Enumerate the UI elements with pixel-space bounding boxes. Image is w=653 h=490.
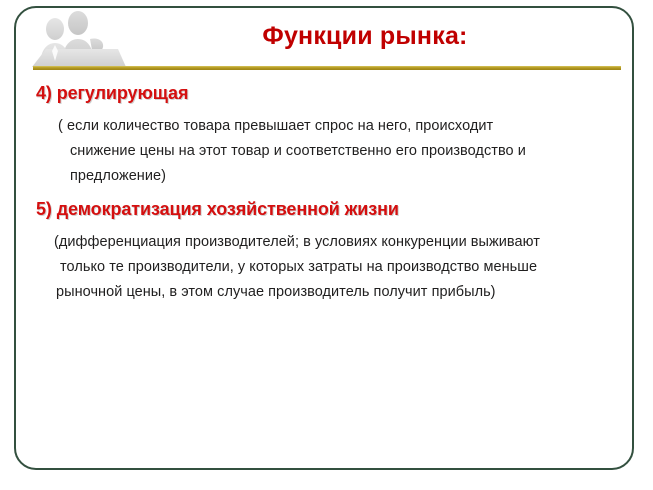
section-body-5: (дифференциация производителей; в услови… <box>32 230 624 305</box>
slide-content: 4) регулирующая ( если количество товара… <box>32 82 624 305</box>
section-heading-5: 5) демократизация хозяйственной жизни <box>32 198 624 221</box>
body-line: предложение) <box>58 164 624 189</box>
body-line: рыночной цены, в этом случае производите… <box>54 280 624 305</box>
body-line: (дифференциация производителей; в услови… <box>54 230 624 255</box>
section-heading-4: 4) регулирующая <box>32 82 624 105</box>
body-line: снижение цены на этот товар и соответств… <box>58 139 624 164</box>
page-title: Функции рынка: <box>130 22 600 51</box>
slide-canvas: Функции рынка: 4) регулирующая ( если ко… <box>0 0 653 490</box>
body-line: только те производители, у которых затра… <box>54 255 624 280</box>
people-silhouette-graphic <box>22 9 137 67</box>
people-silhouette-icon <box>22 9 137 67</box>
section-body-4: ( если количество товара превышает спрос… <box>32 114 624 189</box>
gold-divider-line <box>33 66 621 70</box>
body-line: ( если количество товара превышает спрос… <box>58 114 624 139</box>
